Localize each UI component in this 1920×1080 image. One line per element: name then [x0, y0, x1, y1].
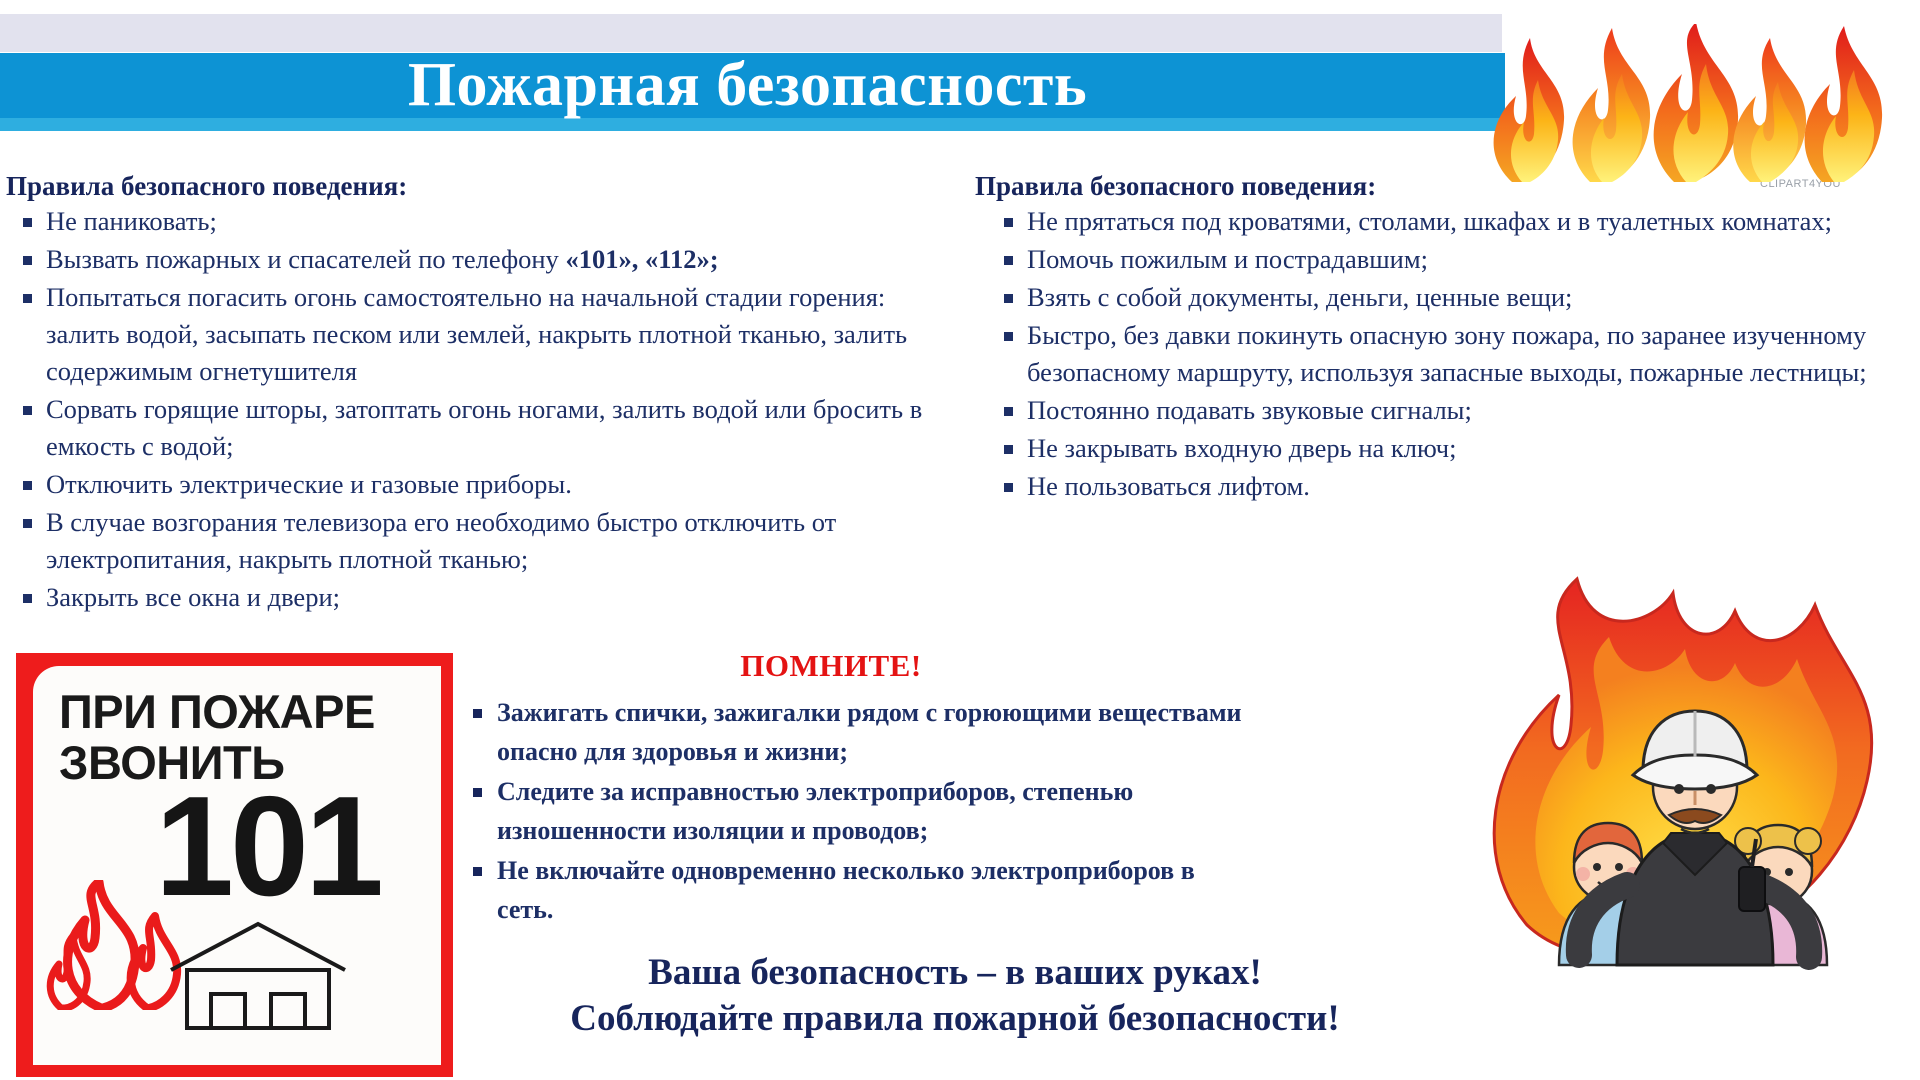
right-rules-list: Не прятаться под кроватями, столами, шка… [975, 203, 1905, 505]
list-item: Не прятаться под кроватями, столами, шка… [975, 203, 1905, 240]
list-item: Отключить электрические и газовые прибор… [6, 466, 956, 503]
list-item: Закрыть все окна и двери; [6, 579, 956, 616]
flame-icon [1478, 24, 1918, 184]
remember-list-wrapper: Зажигать спички, зажигалки рядом с горюю… [455, 692, 1245, 929]
list-item: Не закрывать входную дверь на ключ; [975, 430, 1905, 467]
list-item: Взять с собой документы, деньги, ценные … [975, 279, 1905, 316]
list-item: Попытаться погасить огонь самостоятельно… [6, 279, 956, 390]
list-item: Постоянно подавать звуковые сигналы; [975, 392, 1905, 429]
firefighter-with-children-icon [1467, 575, 1907, 975]
list-item: Быстро, без давки покинуть опасную зону … [975, 317, 1905, 391]
slogan-line-1: Ваша безопасность – в ваших руках! [360, 950, 1550, 996]
list-item: Помочь пожилым и пострадавшим; [975, 241, 1905, 278]
right-rules-column: Правила безопасного поведения: Не прятат… [975, 170, 1905, 505]
slogan-line-2: Соблюдайте правила пожарной безопасности… [360, 996, 1550, 1042]
list-item: Не паниковать; [6, 203, 956, 240]
house-icon [163, 918, 353, 1030]
left-rules-list: Не паниковать; Вызвать пожарных и спасат… [6, 203, 956, 616]
list-item: Зажигать спички, зажигалки рядом с горюю… [455, 693, 1245, 771]
list-item: Не включайте одновременно несколько элек… [455, 851, 1245, 929]
closing-slogan: Ваша безопасность – в ваших руках! Соблю… [360, 950, 1550, 1042]
remember-list: Зажигать спички, зажигалки рядом с горюю… [455, 693, 1245, 929]
left-rules-column: Правила безопасного поведения: Не панико… [6, 170, 956, 616]
list-item: В случае возгорания телевизора его необх… [6, 504, 956, 578]
left-column-heading: Правила безопасного поведения: [6, 170, 956, 202]
list-item: Сорвать горящие шторы, затоптать огонь н… [6, 391, 956, 465]
page-title: Пожарная безопасность [0, 36, 1495, 134]
list-item: Вызвать пожарных и спасателей по телефон… [6, 241, 956, 278]
list-item: Не пользоваться лифтом. [975, 468, 1905, 505]
sign-line-1: ПРИ ПОЖАРЕ [59, 687, 375, 737]
remember-heading: ПОМНИТЕ! [455, 648, 1207, 684]
list-item: Следите за исправностью электроприборов,… [455, 772, 1245, 850]
